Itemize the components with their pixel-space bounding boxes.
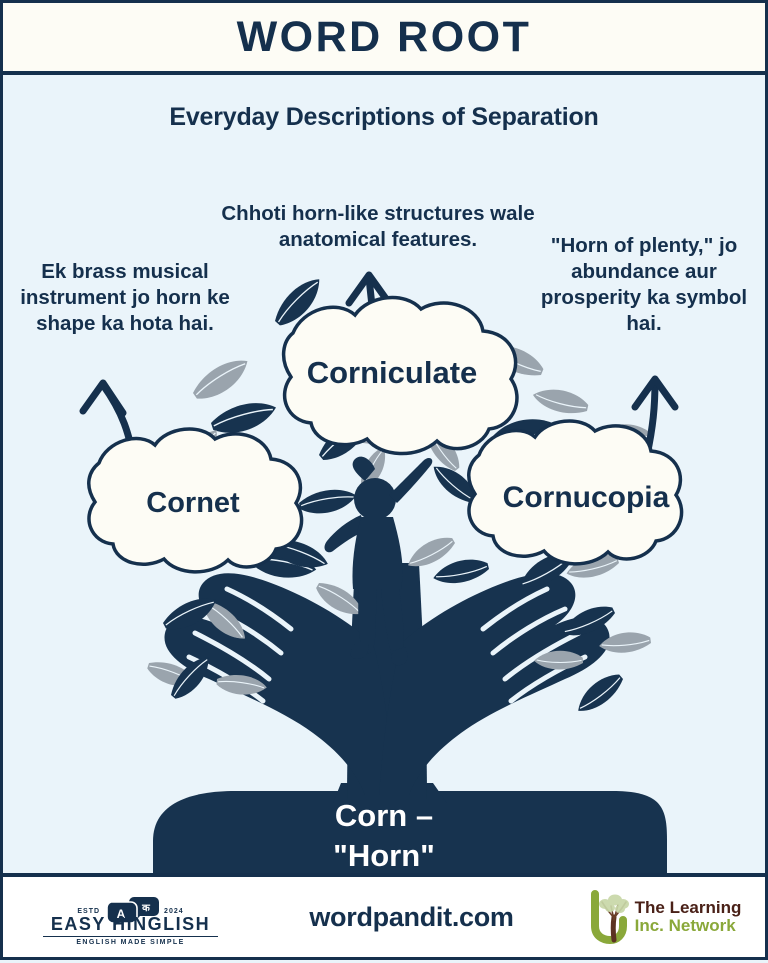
footer-right-section: The Learning Inc. Network <box>565 890 765 944</box>
arrow-left <box>83 383 135 465</box>
root-word-line2: "Horn" <box>3 836 765 876</box>
callout-corniculate-description: Chhoti horn-like structures wale anatomi… <box>203 201 553 253</box>
learning-inc-line1: The Learning <box>635 899 742 917</box>
left-hand-branch <box>164 573 395 795</box>
site-url[interactable]: wordpandit.com <box>309 902 513 933</box>
arrow-right <box>635 379 675 455</box>
bubble-right-glyph: क <box>141 903 151 914</box>
header-band: WORD ROOT <box>3 3 765 75</box>
cloud-label-cornet: Cornet <box>103 487 283 520</box>
easy-hinglish-name: EASY HINGLISH <box>43 914 218 935</box>
learning-inc-line2: Inc. Network <box>635 917 742 935</box>
infographic-page: WORD ROOT Everyday Descriptions of Separ… <box>0 0 768 960</box>
child-silhouette <box>325 457 433 666</box>
footer-center-section: wordpandit.com <box>258 902 565 933</box>
tree-trunk <box>347 563 427 803</box>
callout-cornucopia-description: "Horn of plenty," jo abundance aur prosp… <box>523 233 765 337</box>
learning-inc-logo: The Learning Inc. Network <box>589 890 742 944</box>
easy-hinglish-logo: ESTD क A 2024 EASY HINGLISH ENGLISH MADE… <box>43 884 218 950</box>
root-word-line1: Corn – <box>3 796 765 836</box>
cloud-label-corniculate: Corniculate <box>279 355 505 391</box>
u-tree-icon <box>589 890 631 944</box>
cloud-label-cornucopia: Cornucopia <box>473 481 699 515</box>
footer-bar: ESTD क A 2024 EASY HINGLISH ENGLISH MADE… <box>3 873 765 957</box>
right-hand-branch <box>379 573 610 795</box>
root-word-label: Corn – "Horn" <box>3 796 765 875</box>
arrow-center <box>349 275 389 331</box>
easy-hinglish-tagline: ENGLISH MADE SIMPLE <box>43 936 218 946</box>
learning-inc-text: The Learning Inc. Network <box>635 899 742 936</box>
page-subtitle: Everyday Descriptions of Separation <box>3 103 765 132</box>
callout-cornet-description: Ek brass musical instrument jo horn ke s… <box>11 259 239 337</box>
page-title: WORD ROOT <box>237 13 532 62</box>
footer-left-section: ESTD क A 2024 EASY HINGLISH ENGLISH MADE… <box>3 884 258 950</box>
